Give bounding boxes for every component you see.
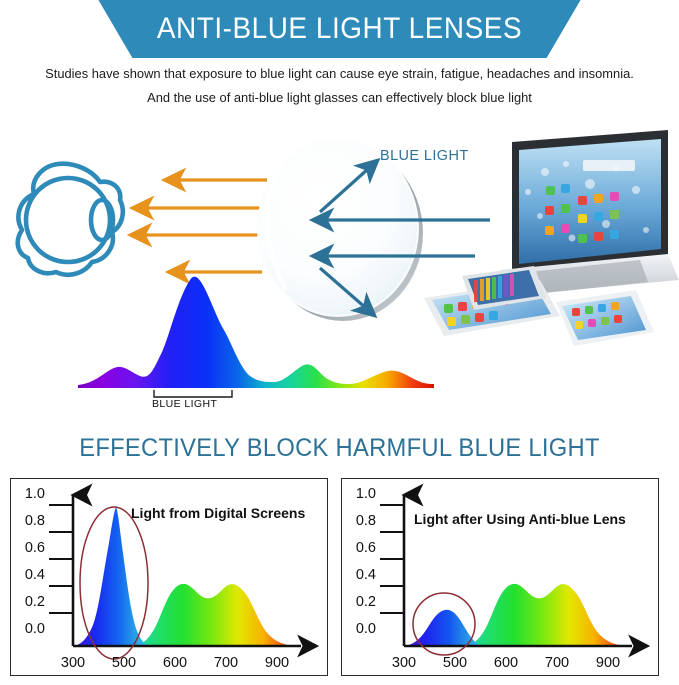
chart-panel-anti-blue-lens: 1.0 0.8 0.6 0.4 0.2 0.0 300 500 600 700 … xyxy=(341,478,659,676)
svg-text:0.6: 0.6 xyxy=(356,540,376,556)
blocked-light-rays xyxy=(130,180,272,272)
y-axis-labels: 1.0 0.8 0.6 0.4 0.2 0.0 xyxy=(25,486,45,637)
y-axis-ticks xyxy=(380,505,404,613)
page-title: ANTI-BLUE LIGHT LENSES xyxy=(24,0,655,58)
warm-spectrum-area xyxy=(464,584,630,646)
svg-text:1.0: 1.0 xyxy=(356,486,376,502)
phone-device-right xyxy=(556,290,654,346)
header-banner: ANTI-BLUE LIGHT LENSES xyxy=(0,0,679,58)
svg-text:500: 500 xyxy=(443,655,467,671)
svg-text:900: 900 xyxy=(265,655,289,671)
svg-text:0.0: 0.0 xyxy=(356,621,376,637)
warm-spectrum-area xyxy=(133,584,299,646)
svg-text:700: 700 xyxy=(545,655,569,671)
svg-text:0.4: 0.4 xyxy=(356,567,376,583)
spectrum-bracket xyxy=(154,390,232,397)
svg-text:0.8: 0.8 xyxy=(356,513,376,529)
svg-text:0.2: 0.2 xyxy=(25,594,45,610)
eye-icon xyxy=(18,164,123,275)
svg-text:0.8: 0.8 xyxy=(25,513,45,529)
svg-text:0.6: 0.6 xyxy=(25,540,45,556)
chart-panel-digital-screens: 1.0 0.8 0.6 0.4 0.2 0.0 300 500 600 700 … xyxy=(10,478,328,676)
intro-line-1: Studies have shown that exposure to blue… xyxy=(10,66,669,81)
lens-disc xyxy=(258,140,423,321)
spectrum-bracket-label: BLUE LIGHT xyxy=(152,398,217,410)
chart-title-left: Light from Digital Screens xyxy=(131,505,305,521)
svg-text:600: 600 xyxy=(163,655,187,671)
svg-text:900: 900 xyxy=(596,655,620,671)
section-heading: EFFECTIVELY BLOCK HARMFUL BLUE LIGHT xyxy=(17,434,662,463)
y-axis-ticks xyxy=(49,505,73,613)
svg-text:1.0: 1.0 xyxy=(25,486,45,502)
svg-text:0.4: 0.4 xyxy=(25,567,45,583)
blue-light-label: BLUE LIGHT xyxy=(380,148,469,164)
chart-title-right: Light after Using Anti-blue Lens xyxy=(414,511,626,527)
svg-text:300: 300 xyxy=(61,655,85,671)
illustration-area xyxy=(0,120,679,420)
svg-text:0.0: 0.0 xyxy=(25,621,45,637)
svg-text:300: 300 xyxy=(392,655,416,671)
x-axis-labels: 300 500 600 700 900 xyxy=(61,655,289,671)
blue-peak-area xyxy=(73,507,151,646)
y-axis-labels: 1.0 0.8 0.6 0.4 0.2 0.0 xyxy=(356,486,376,637)
x-axis-labels: 300 500 600 700 900 xyxy=(392,655,620,671)
svg-text:0.2: 0.2 xyxy=(356,594,376,610)
svg-text:600: 600 xyxy=(494,655,518,671)
svg-text:500: 500 xyxy=(112,655,136,671)
svg-text:700: 700 xyxy=(214,655,238,671)
intro-line-2: And the use of anti-blue light glasses c… xyxy=(10,90,669,105)
